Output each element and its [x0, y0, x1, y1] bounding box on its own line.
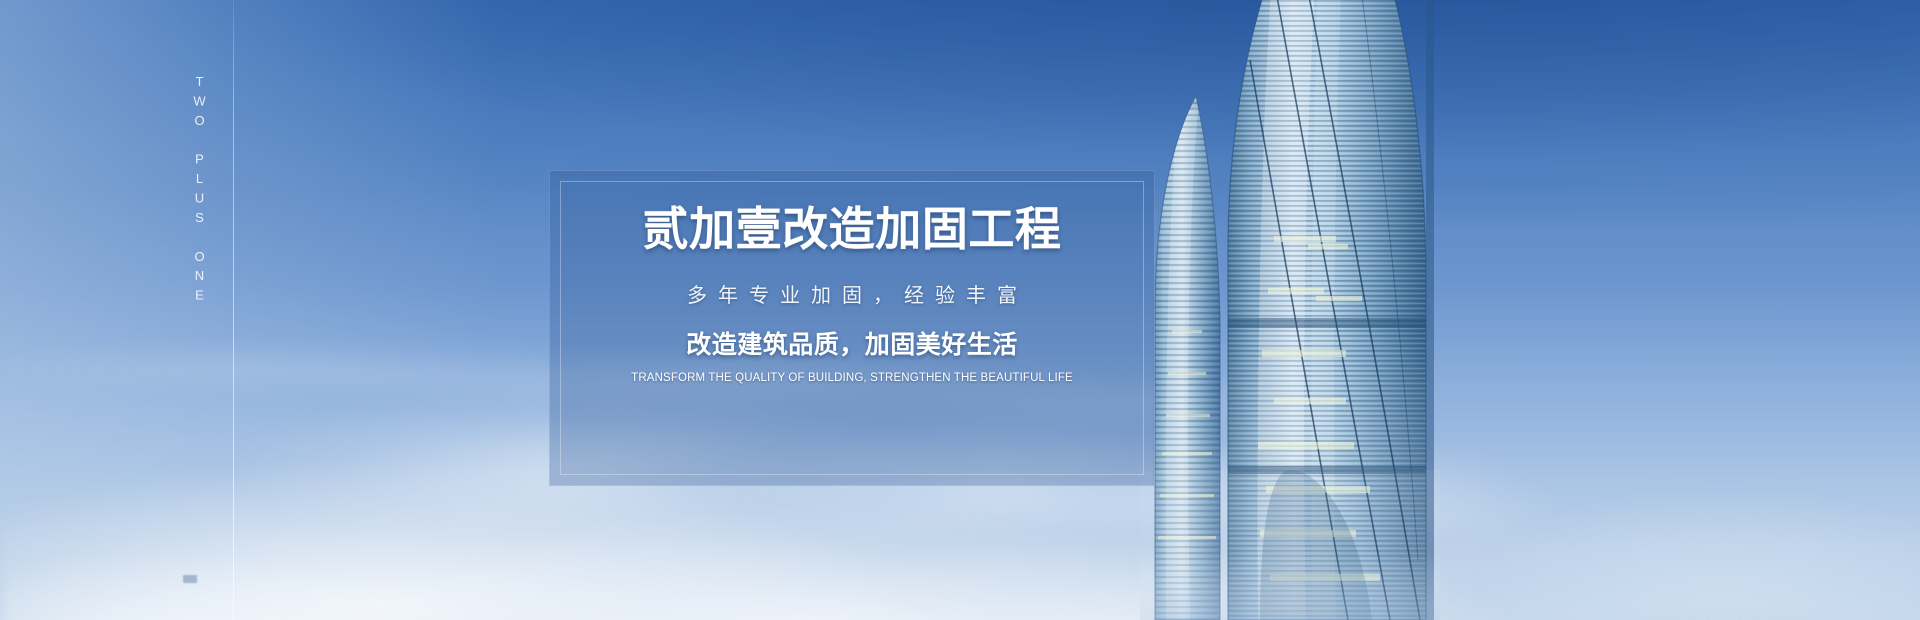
hero-banner: TWO PLUS ONE 贰加壹改造加固工程 多年专业加固，经验丰富 改造建筑品…	[0, 0, 1920, 620]
slogan-text: 改造建筑品质，加固美好生活	[686, 331, 1018, 360]
subtitle-text: 多年专业加固，经验丰富	[676, 283, 1028, 307]
sky-left-haze	[0, 0, 499, 620]
panel-content: 贰加壹改造加固工程 多年专业加固，经验丰富 改造建筑品质，加固美好生活 TRAN…	[550, 171, 1154, 485]
headline-title: 贰加壹改造加固工程	[643, 205, 1062, 255]
english-tagline: TRANSFORM THE QUALITY OF BUILDING, STREN…	[631, 372, 1073, 386]
corner-mark	[183, 575, 197, 583]
hero-text-panel: 贰加壹改造加固工程 多年专业加固，经验丰富 改造建筑品质，加固美好生活 TRAN…	[549, 170, 1155, 486]
vertical-divider-line	[233, 0, 234, 620]
vertical-brand-text: TWO PLUS ONE	[178, 74, 206, 307]
